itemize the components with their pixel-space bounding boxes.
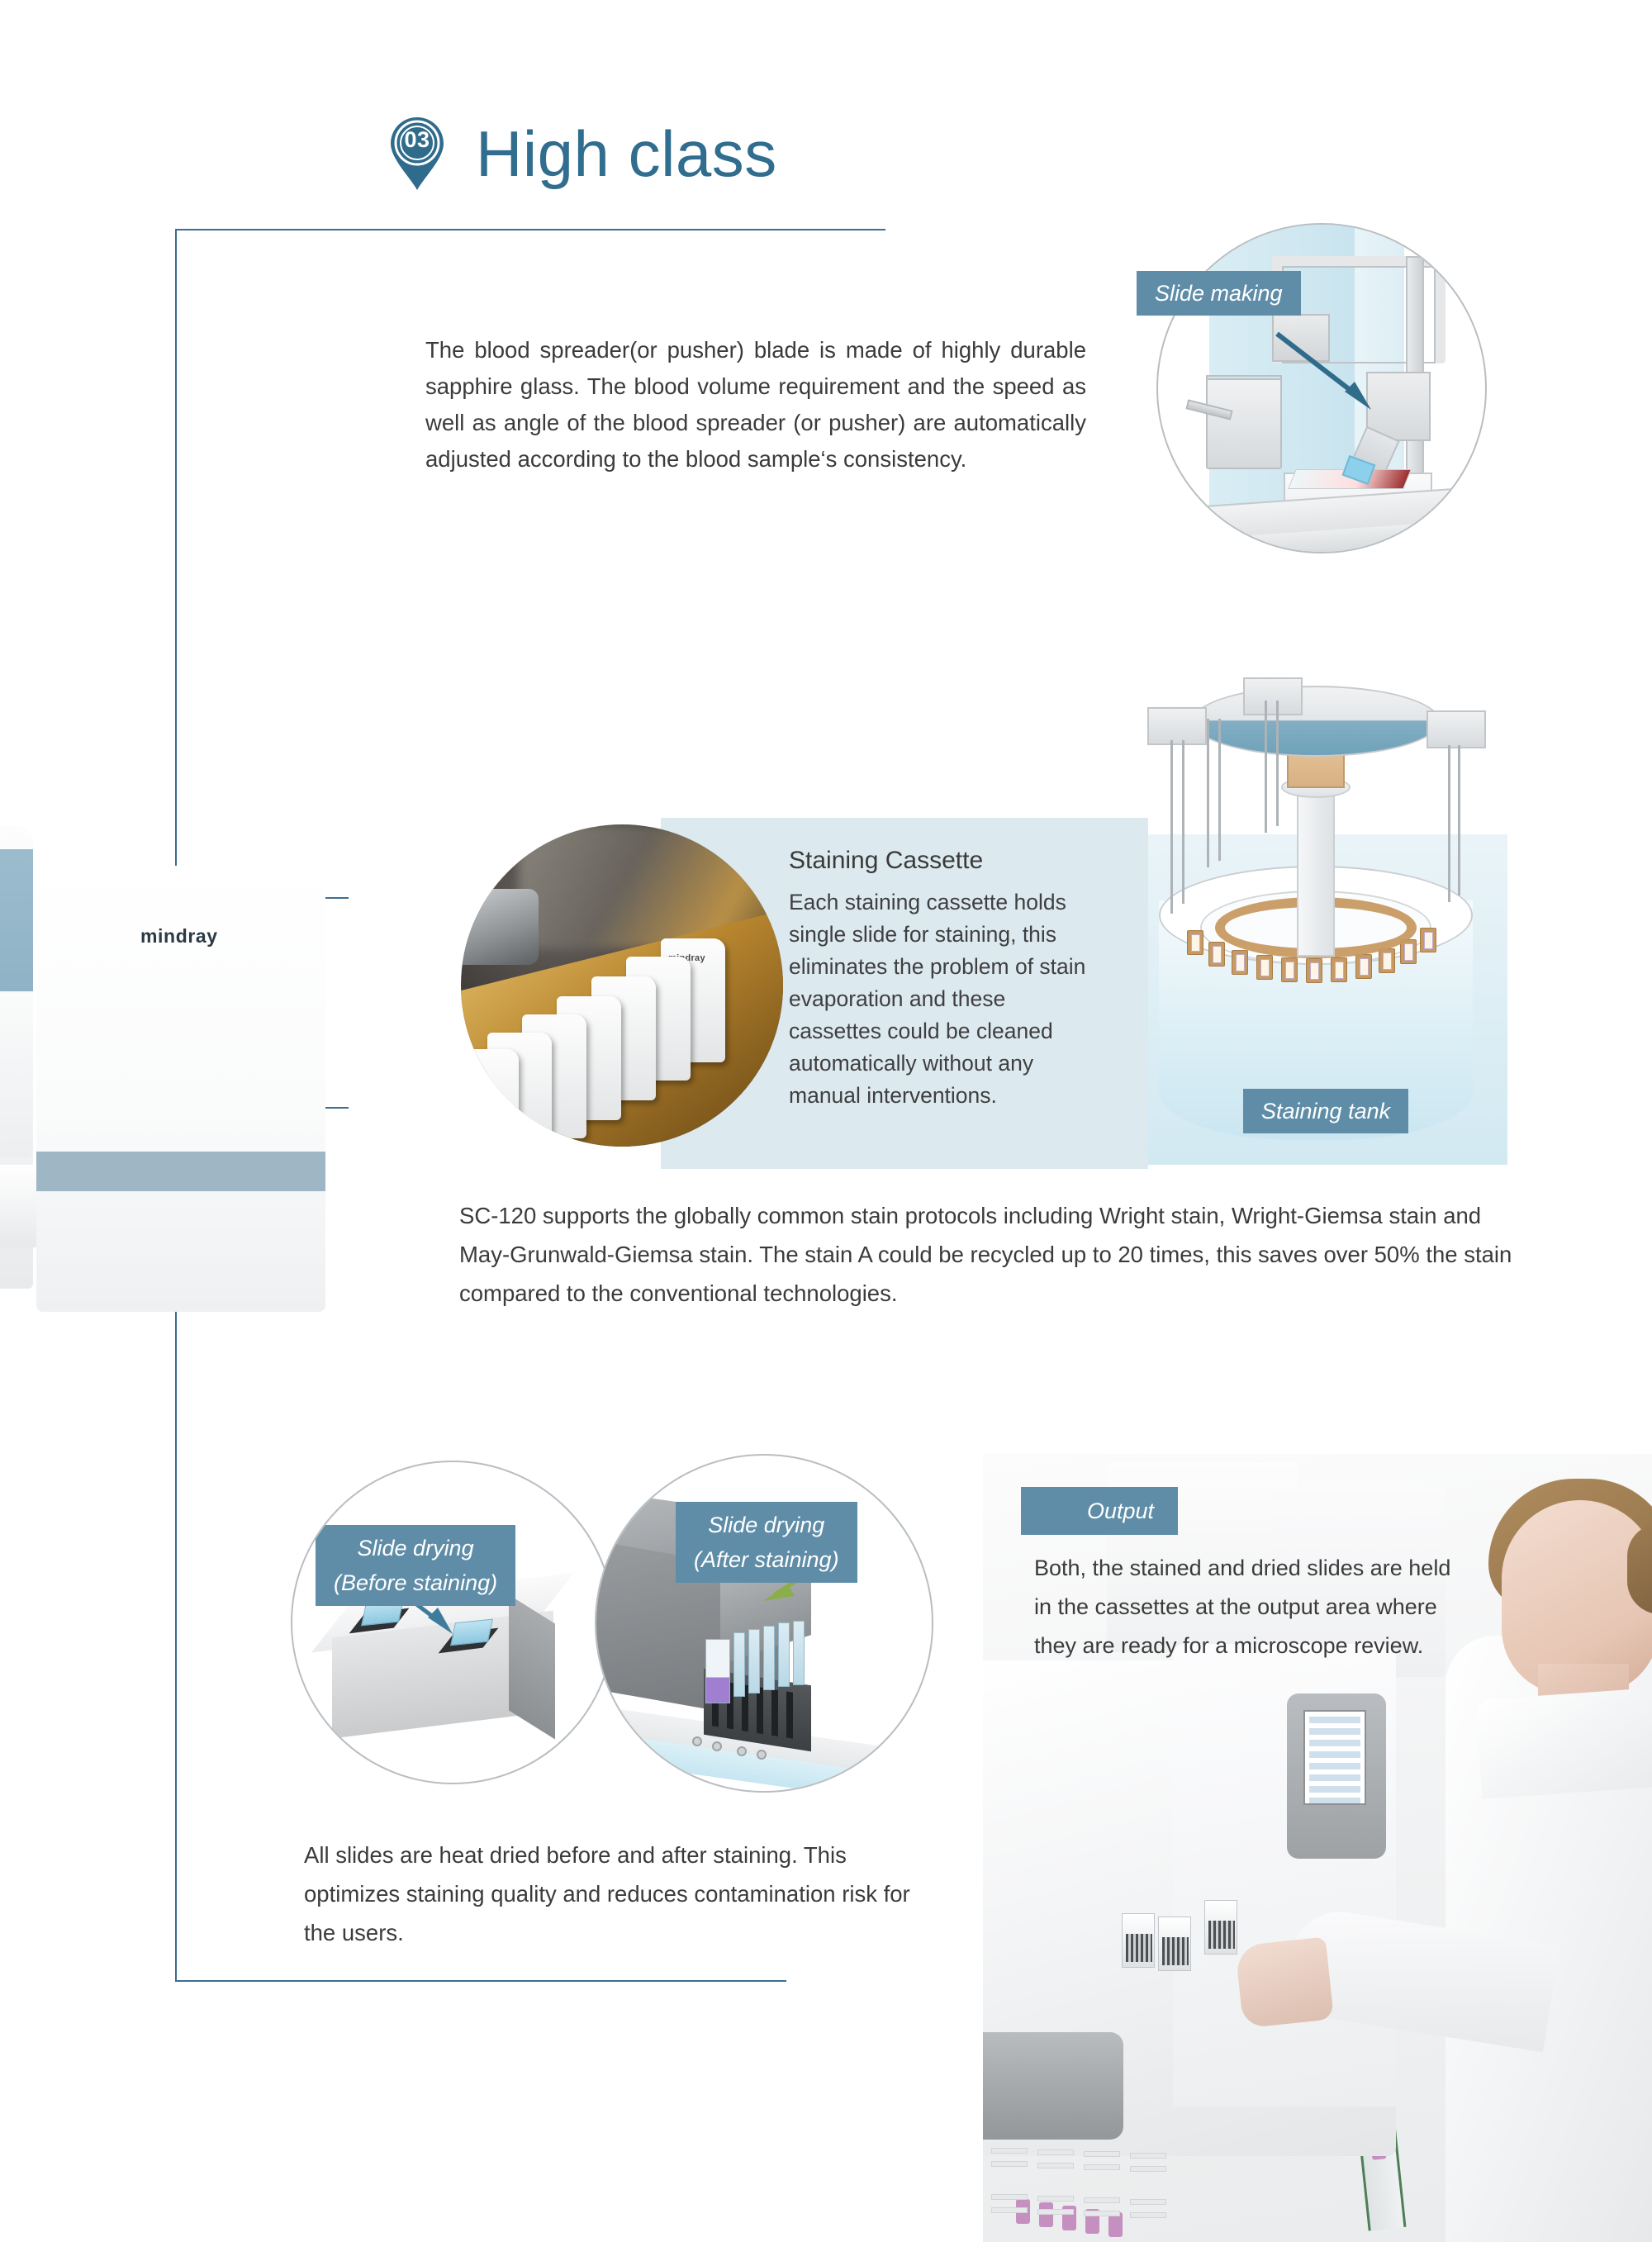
cassette-slot: [1232, 950, 1248, 975]
brochure-page: 03 High class The blood spreader(or push…: [0, 0, 1652, 2242]
reagent-reservoir: [1206, 378, 1282, 469]
cassette-slot: [1208, 942, 1225, 967]
slide-drying-before-label: Slide drying (Before staining): [316, 1525, 515, 1606]
cassette-slot: [1256, 955, 1273, 980]
screw-icon: [757, 1750, 767, 1760]
analyzer-vent-grille: [991, 2148, 1181, 2222]
stained-slide: [705, 1639, 730, 1703]
staining-cassette-photo: mindray: [461, 824, 783, 1147]
photo-metal-part: [461, 889, 539, 965]
dispense-probe: [1458, 745, 1460, 895]
stained-slide: [778, 1622, 790, 1687]
cassette-slot: [1187, 930, 1203, 955]
map-pin-icon: 03: [388, 116, 446, 192]
cassette-slot: [1306, 958, 1322, 983]
analyzer-lower-deck: [0, 993, 33, 1158]
stained-slide: [763, 1626, 775, 1690]
tank-rotor-plate: [1192, 686, 1440, 757]
staining-tank-illustration: Staining tank: [1111, 653, 1524, 1165]
cassette-slot: [1281, 957, 1298, 982]
analyzer-accent-band: [36, 1152, 325, 1191]
stain-protocols-paragraph: SC-120 supports the globally common stai…: [459, 1196, 1525, 1313]
stained-slide: [733, 1632, 745, 1697]
cassette-slot: [1331, 957, 1347, 982]
stained-slide: [793, 1621, 805, 1685]
screw-icon: [712, 1741, 722, 1751]
analyzer-gray-hood: [983, 2032, 1123, 2140]
cassette-slot: [1420, 928, 1436, 952]
dispense-probe: [1182, 740, 1184, 904]
analyzer-touchscreen: [1303, 1710, 1366, 1805]
slide-drying-after-label: Slide drying (After staining): [676, 1502, 857, 1583]
dispense-probe: [1207, 719, 1209, 867]
heat-drying-paragraph: All slides are heat dried before and aft…: [304, 1836, 932, 1952]
output-cassette: [1158, 1917, 1191, 1971]
header-number: 03: [388, 127, 446, 153]
callout-arrow-icon: [1274, 330, 1398, 430]
dispense-probe: [1218, 719, 1221, 861]
probe-arm-block: [1147, 707, 1207, 745]
slide-drying-before-illustration: Slide drying (Before staining): [291, 1461, 615, 1784]
cassette-card: [461, 1049, 519, 1147]
output-cassette: [1122, 1913, 1155, 1968]
page-header: 03 High class: [388, 116, 777, 192]
output-paragraph: Both, the stained and dried slides are h…: [1034, 1549, 1472, 1665]
cassette-slot: [1379, 948, 1395, 973]
stained-slide: [748, 1629, 760, 1693]
output-cassette: [1204, 1900, 1237, 1955]
dispense-probe: [1276, 701, 1279, 826]
slide-drying-after-illustration: Slide drying (After staining): [595, 1454, 933, 1793]
dispense-probe: [1448, 745, 1450, 902]
spreader-paragraph: The blood spreader(or pusher) blade is m…: [425, 332, 1086, 477]
screw-icon: [692, 1736, 702, 1746]
technician-hand: [1235, 1937, 1334, 2029]
hematology-analyzer-photo: mindray: [0, 793, 347, 1338]
probe-arm-block: [1427, 710, 1486, 748]
screw-icon: [737, 1746, 747, 1756]
dispense-probe: [1265, 701, 1267, 833]
analyzer-brand-logo: mindray: [140, 925, 218, 948]
cassette-slot: [1355, 954, 1372, 979]
frame-line-top: [175, 229, 885, 230]
staining-cassette-heading: Staining Cassette: [789, 847, 983, 875]
dispense-probe: [1170, 740, 1173, 914]
staining-tank-label: Staining tank: [1243, 1089, 1408, 1133]
frame-line-bottom: [175, 1980, 786, 1982]
tank-center-column: [1297, 783, 1335, 957]
technician-collar: [1475, 1687, 1652, 1799]
slide-making-label: Slide making: [1137, 271, 1301, 316]
page-title: High class: [476, 121, 777, 186]
analyzer-screen-panel: [0, 849, 33, 991]
slide-making-illustration: Slide making: [1123, 207, 1487, 562]
output-label: Output: [1021, 1487, 1178, 1535]
probe-arm-block: [1243, 677, 1303, 715]
staining-cassette-paragraph: Each staining cassette holds single slid…: [789, 886, 1086, 1112]
